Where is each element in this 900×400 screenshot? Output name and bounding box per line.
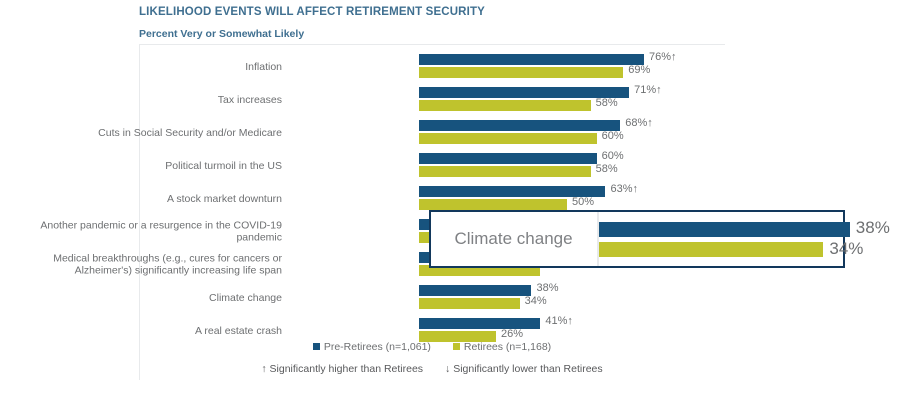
chart-subtitle: Percent Very or Somewhat Likely — [139, 28, 304, 40]
legend-swatch-icon — [453, 343, 460, 350]
bar-value-ret: 50% — [572, 197, 594, 208]
bar-rows: Inflation76%↑69%Tax increases71%↑58%Cuts… — [0, 46, 760, 336]
bar-value-ret: 69% — [628, 65, 650, 76]
bar-value-ret: 34% — [525, 296, 547, 307]
bar-ret — [419, 199, 567, 210]
legend-item-pre[interactable]: Pre-Retirees (n=1,061) — [313, 341, 431, 353]
bar-ret — [419, 133, 597, 144]
bar-value-pre: 60% — [602, 151, 624, 162]
legend-item-ret[interactable]: Retirees (n=1,168) — [453, 341, 551, 353]
legend-swatch-icon — [313, 343, 320, 350]
category-label: Another pandemic or a resurgence in the … — [2, 219, 282, 244]
bar-value-pre: 41%↑ — [545, 316, 573, 327]
inset-category-label: Climate change — [431, 212, 596, 266]
bar-value-pre: 38% — [536, 283, 558, 294]
category-label: Cuts in Social Security and/or Medicare — [2, 126, 282, 138]
inset-value-pre: 38% — [856, 219, 890, 236]
bar-ret — [419, 166, 591, 177]
chart-legend: Pre-Retirees (n=1,061)Retirees (n=1,168) — [139, 341, 725, 353]
magnified-inset: Climate change 38%34% — [429, 210, 845, 268]
inset-bars: 38%34% — [599, 212, 843, 266]
bar-value-ret: 58% — [596, 164, 618, 175]
bar-pre — [419, 153, 597, 164]
footnote-2: ↓ Significantly lower than Retirees — [445, 363, 603, 375]
inset-bar-ret — [599, 242, 823, 257]
category-label: Medical breakthroughs (e.g., cures for c… — [2, 252, 282, 277]
bar-row: Tax increases71%↑58% — [0, 85, 760, 114]
chart-title: LIKELIHOOD EVENTS WILL AFFECT RETIREMENT… — [139, 6, 485, 18]
category-label: A real estate crash — [2, 324, 282, 336]
footnote-1: ↑ Significantly higher than Retirees — [261, 363, 423, 375]
bar-row: Political turmoil in the US60%58% — [0, 151, 760, 180]
bar-row: Cuts in Social Security and/or Medicare6… — [0, 118, 760, 147]
bar-pre — [419, 285, 531, 296]
bar-ret — [419, 298, 520, 309]
bar-ret — [419, 100, 591, 111]
legend-label: Retirees (n=1,168) — [464, 341, 551, 353]
bar-value-pre: 68%↑ — [625, 118, 653, 129]
bar-value-pre: 76%↑ — [649, 52, 677, 63]
bar-ret — [419, 67, 623, 78]
bar-pre — [419, 54, 644, 65]
category-label: Tax increases — [2, 93, 282, 105]
category-label: A stock market downturn — [2, 192, 282, 204]
bar-value-ret: 58% — [596, 98, 618, 109]
chart-screenshot: LIKELIHOOD EVENTS WILL AFFECT RETIREMENT… — [0, 0, 900, 400]
chart-footnotes: ↑ Significantly higher than Retirees↓ Si… — [139, 363, 725, 375]
bar-row: Inflation76%↑69% — [0, 52, 760, 81]
bar-value-pre: 63%↑ — [610, 184, 638, 195]
bar-row: A stock market downturn63%↑50% — [0, 184, 760, 213]
bar-value-pre: 71%↑ — [634, 85, 662, 96]
inset-value-ret: 34% — [829, 240, 863, 257]
category-label: Inflation — [2, 60, 282, 72]
bar-value-ret: 26% — [501, 329, 523, 340]
category-label: Climate change — [2, 291, 282, 303]
bar-pre — [419, 120, 620, 131]
legend-label: Pre-Retirees (n=1,061) — [324, 341, 431, 353]
bar-value-ret: 60% — [602, 131, 624, 142]
inset-bar-pre — [599, 222, 850, 237]
bar-row: Climate change38%34% — [0, 283, 760, 312]
category-label: Political turmoil in the US — [2, 159, 282, 171]
